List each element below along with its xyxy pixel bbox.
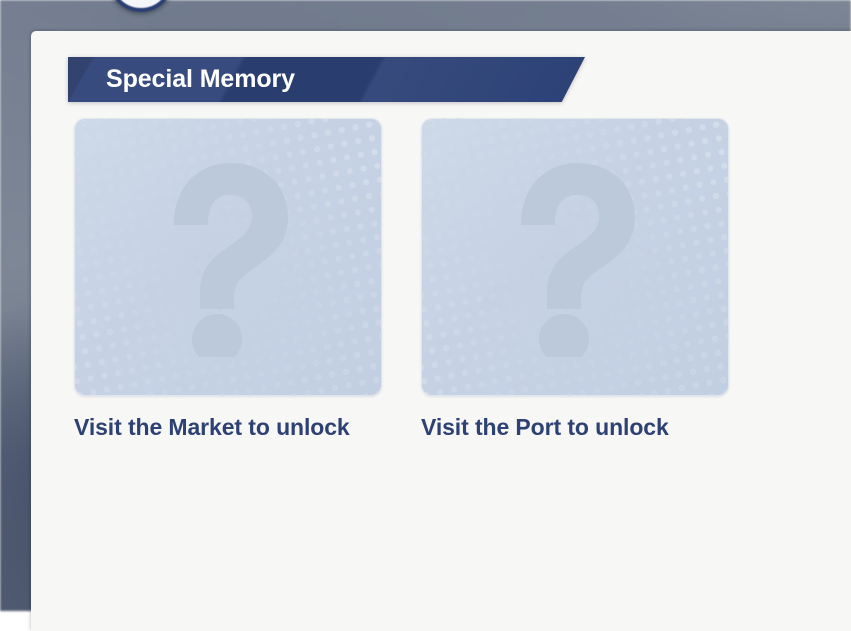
- special-memory-panel: Special Memory Visit the Market to unloc…: [31, 31, 851, 631]
- section-title: Special Memory: [106, 65, 295, 94]
- memory-card-caption: Visit the Market to unlock: [74, 412, 374, 443]
- memory-card-grid: Visit the Market to unlock Visit the Por…: [74, 118, 729, 443]
- memory-card-port[interactable]: Visit the Port to unlock: [421, 118, 729, 443]
- memory-card-caption: Visit the Port to unlock: [421, 412, 681, 443]
- memory-thumbnail-locked[interactable]: [74, 118, 382, 396]
- question-mark-icon: [74, 118, 382, 396]
- question-mark-icon: [421, 118, 729, 396]
- memory-thumbnail-locked[interactable]: [421, 118, 729, 396]
- section-banner: Special Memory: [68, 57, 585, 102]
- memory-card-market[interactable]: Visit the Market to unlock: [74, 118, 382, 443]
